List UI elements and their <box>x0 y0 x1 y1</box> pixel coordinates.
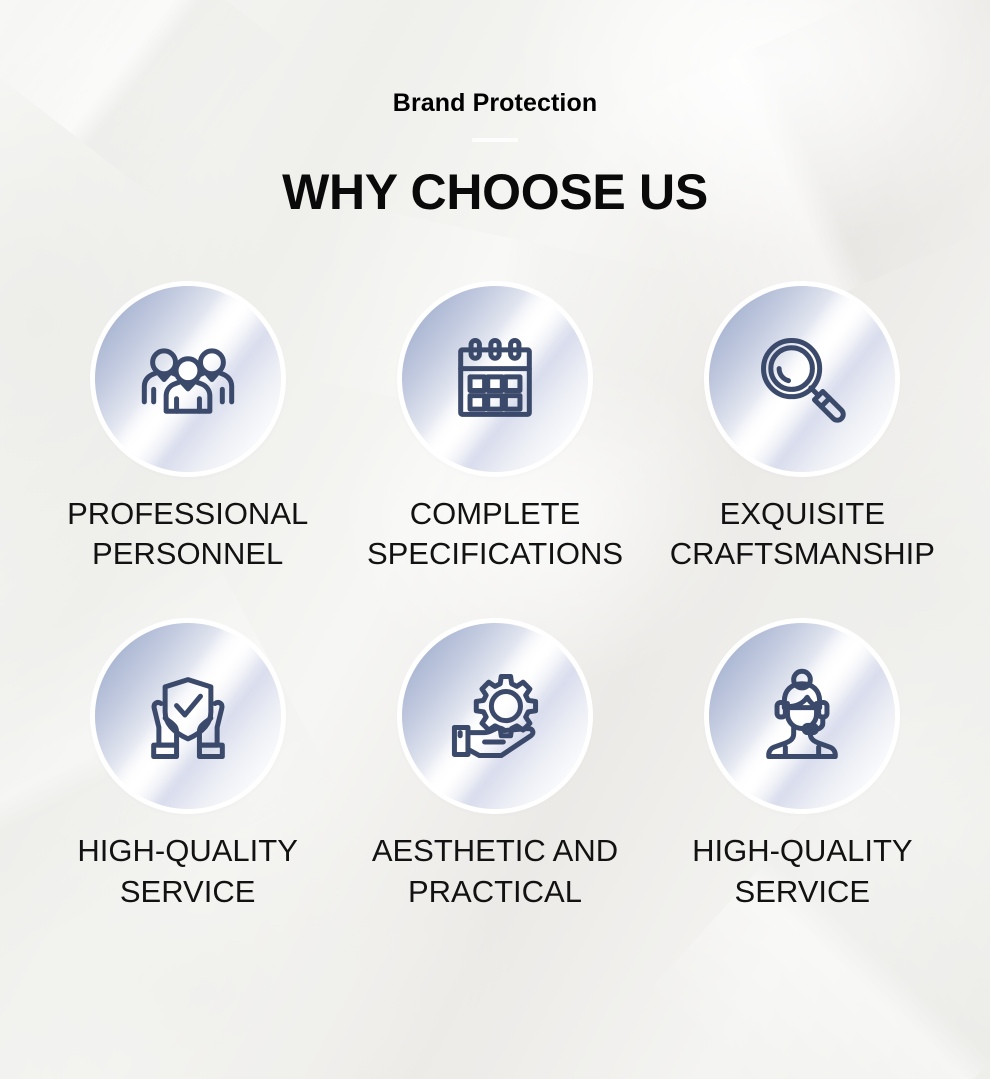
why-choose-us-page: Brand Protection WHY CHOOSE US <box>0 0 990 1079</box>
feature-card: HIGH-QUALITY SERVICE <box>649 623 956 913</box>
feature-card: PROFESSIONAL PERSONNEL <box>34 286 341 576</box>
page-header: Brand Protection WHY CHOOSE US <box>0 0 990 222</box>
feature-icon-badge <box>95 286 281 472</box>
feature-card: AESTHETIC AND PRACTICAL <box>341 623 648 913</box>
feature-icon-badge <box>402 623 588 809</box>
feature-card: COMPLETE SPECIFICATIONS <box>341 286 648 576</box>
hand-gear-icon <box>443 664 547 768</box>
brand-eyebrow-text: Brand Protection <box>0 88 990 118</box>
header-divider <box>472 138 518 142</box>
calendar-icon <box>443 327 547 431</box>
magnifying-glass-icon <box>750 327 854 431</box>
feature-card: HIGH-QUALITY SERVICE <box>34 623 341 913</box>
feature-label: COMPLETE SPECIFICATIONS <box>350 494 640 576</box>
feature-icon-badge <box>402 286 588 472</box>
hands-shield-check-icon <box>136 664 240 768</box>
feature-icon-badge <box>95 623 281 809</box>
headset-agent-icon <box>750 664 854 768</box>
feature-icon-badge <box>709 286 895 472</box>
feature-label: HIGH-QUALITY SERVICE <box>657 831 947 913</box>
feature-label: HIGH-QUALITY SERVICE <box>43 831 333 913</box>
feature-label: PROFESSIONAL PERSONNEL <box>43 494 333 576</box>
features-grid: PROFESSIONAL PERSONNEL CO <box>0 286 990 914</box>
feature-card: EXQUISITE CRAFTSMANSHIP <box>649 286 956 576</box>
team-people-icon <box>136 327 240 431</box>
feature-label: AESTHETIC AND PRACTICAL <box>350 831 640 913</box>
page-title: WHY CHOOSE US <box>0 164 990 222</box>
feature-icon-badge <box>709 623 895 809</box>
feature-label: EXQUISITE CRAFTSMANSHIP <box>657 494 947 576</box>
